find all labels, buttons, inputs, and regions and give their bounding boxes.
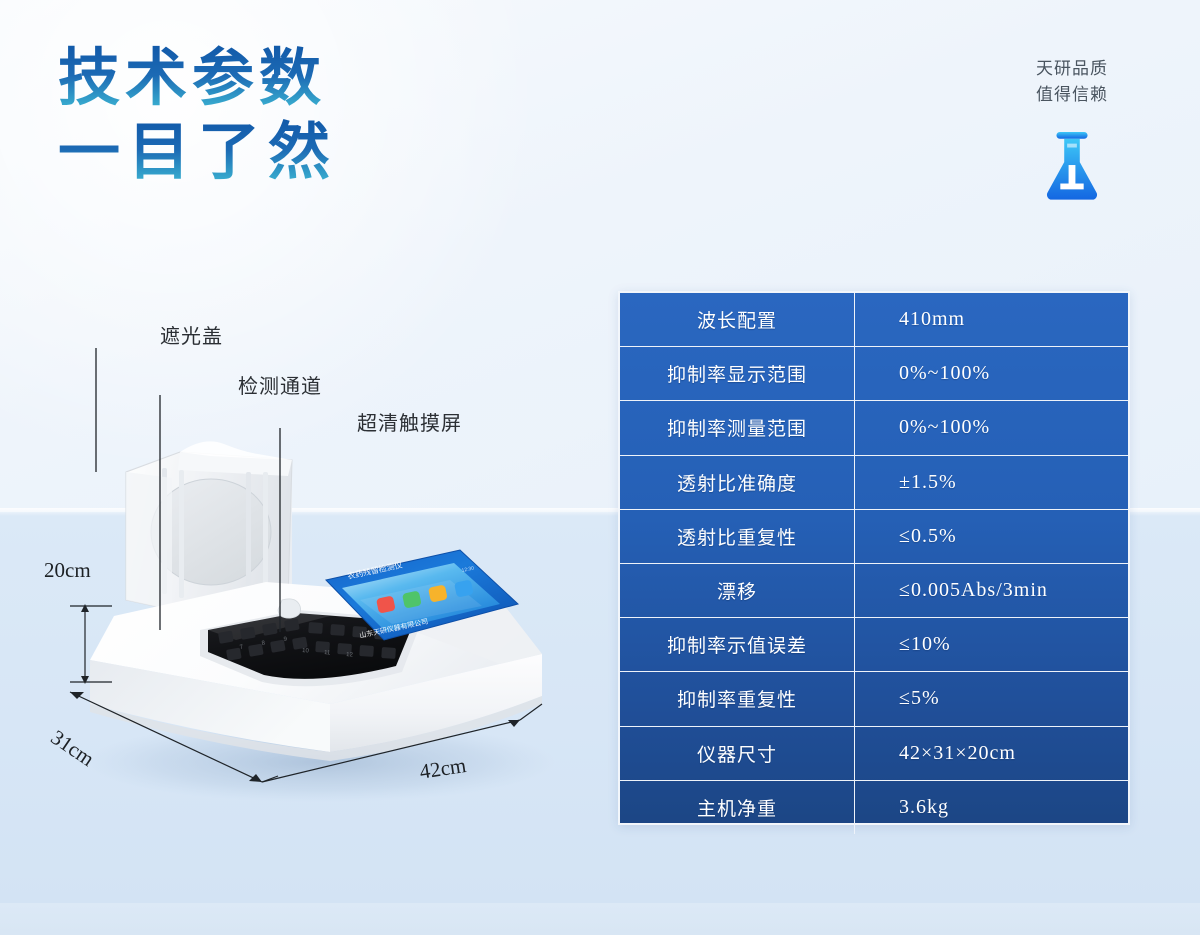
spec-row: 抑制率重复性≤5% [620,672,1128,726]
flask-icon [1037,130,1107,202]
callout-label-touchscreen: 超清触摸屏 [357,407,462,436]
spec-row-key: 仪器尺寸 [620,727,855,780]
brand-block: 天研品质 值得信赖 [1002,56,1142,202]
callout-label-light-shield: 遮光盖 [160,320,223,349]
spec-row: 漂移≤0.005Abs/3min [620,564,1128,618]
spec-row: 抑制率显示范围0%~100% [620,347,1128,401]
spec-row-value: ≤10% [855,618,1128,671]
page-title-line-2: 一目了然 [58,116,338,190]
spec-row-value: 42×31×20cm [855,727,1128,780]
spec-row-key: 波长配置 [620,293,855,346]
brand-line-1: 天研品质 [1002,56,1142,82]
spec-row-key: 抑制率重复性 [620,672,855,725]
svg-text:12: 12 [346,652,354,658]
callout-label-detection-channel: 检测通道 [238,370,322,399]
spec-table: 波长配置410mm抑制率显示范围0%~100%抑制率测量范围0%~100%透射比… [618,291,1130,825]
spec-row: 抑制率测量范围0%~100% [620,401,1128,455]
spec-row: 透射比重复性≤0.5% [620,510,1128,564]
spec-row-key: 抑制率显示范围 [620,347,855,400]
brand-line-2: 值得信赖 [1002,82,1142,108]
spec-row: 透射比准确度±1.5% [620,456,1128,510]
dimension-label-height: 20cm [44,558,91,583]
spec-row-value: 410mm [855,293,1128,346]
spec-row-value: ≤0.005Abs/3min [855,564,1128,617]
spec-row-key: 透射比准确度 [620,456,855,509]
spec-row: 抑制率示值误差≤10% [620,618,1128,672]
spec-row-key: 抑制率测量范围 [620,401,855,454]
spec-row-key: 抑制率示值误差 [620,618,855,671]
page-title-line-1: 技术参数 [58,42,338,116]
spec-row-key: 漂移 [620,564,855,617]
spec-row-key: 主机净重 [620,781,855,834]
spec-row-value: ≤5% [855,672,1128,725]
spec-row-value: 0%~100% [855,401,1128,454]
spec-row: 仪器尺寸42×31×20cm [620,727,1128,781]
spec-row-value: ≤0.5% [855,510,1128,563]
spec-row-key: 透射比重复性 [620,510,855,563]
spec-row: 波长配置410mm [620,293,1128,347]
spec-row: 主机净重3.6kg [620,781,1128,834]
spec-row-value: 3.6kg [855,781,1128,834]
page-root: 技术参数 一目了然 天研品质 值得信赖 [0,0,1200,935]
svg-text:11: 11 [324,650,331,656]
svg-text:10: 10 [302,648,310,654]
spec-row-value: 0%~100% [855,347,1128,400]
page-title: 技术参数 一目了然 [58,42,338,190]
background-floor-strip [0,903,1200,935]
spec-row-value: ±1.5% [855,456,1128,509]
